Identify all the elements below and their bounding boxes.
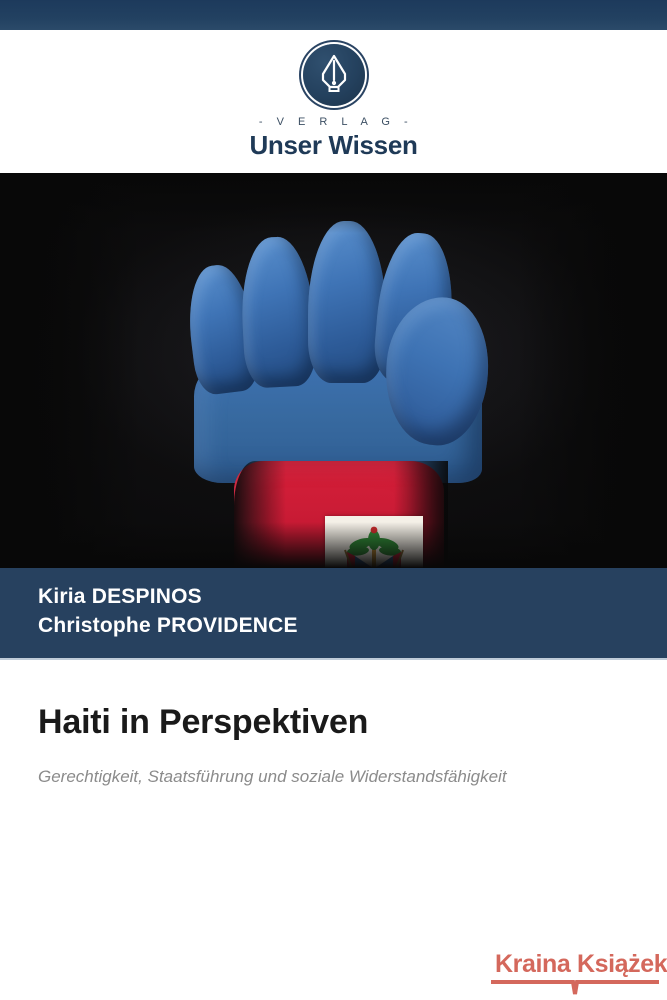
author-name-1: Kiria DESPINOS — [38, 582, 667, 611]
photo-edge-bottom — [0, 522, 667, 568]
photo-edge-right — [517, 173, 667, 568]
book-cover: - V E R L A G - Unser Wissen — [0, 0, 667, 1000]
cover-photo: L'UNION FAIT LA FORCE — [0, 173, 667, 568]
publisher-name: Unser Wissen — [249, 130, 417, 161]
kraina-ksiazek-watermark: Kraina Książek — [489, 950, 661, 994]
watermark-label: Kraina Książek — [495, 950, 667, 979]
publisher-block: - V E R L A G - Unser Wissen — [0, 30, 667, 173]
pen-nib-icon — [303, 44, 365, 106]
publisher-eyebrow: - V E R L A G - — [254, 116, 413, 128]
top-accent-bar — [0, 0, 667, 31]
book-subtitle: Gerechtigkeit, Staatsführung und soziale… — [38, 764, 508, 789]
finger-2 — [238, 235, 318, 389]
book-title: Haiti in Perspektiven — [38, 702, 629, 742]
author-band: Kiria DESPINOS Christophe PROVIDENCE — [0, 568, 667, 660]
finger-3 — [308, 221, 386, 383]
photo-edge-left — [0, 173, 140, 568]
haiti-flag-fist-illustration — [188, 193, 488, 568]
author-name-2: Christophe PROVIDENCE — [38, 611, 667, 640]
open-book-icon — [489, 980, 661, 996]
